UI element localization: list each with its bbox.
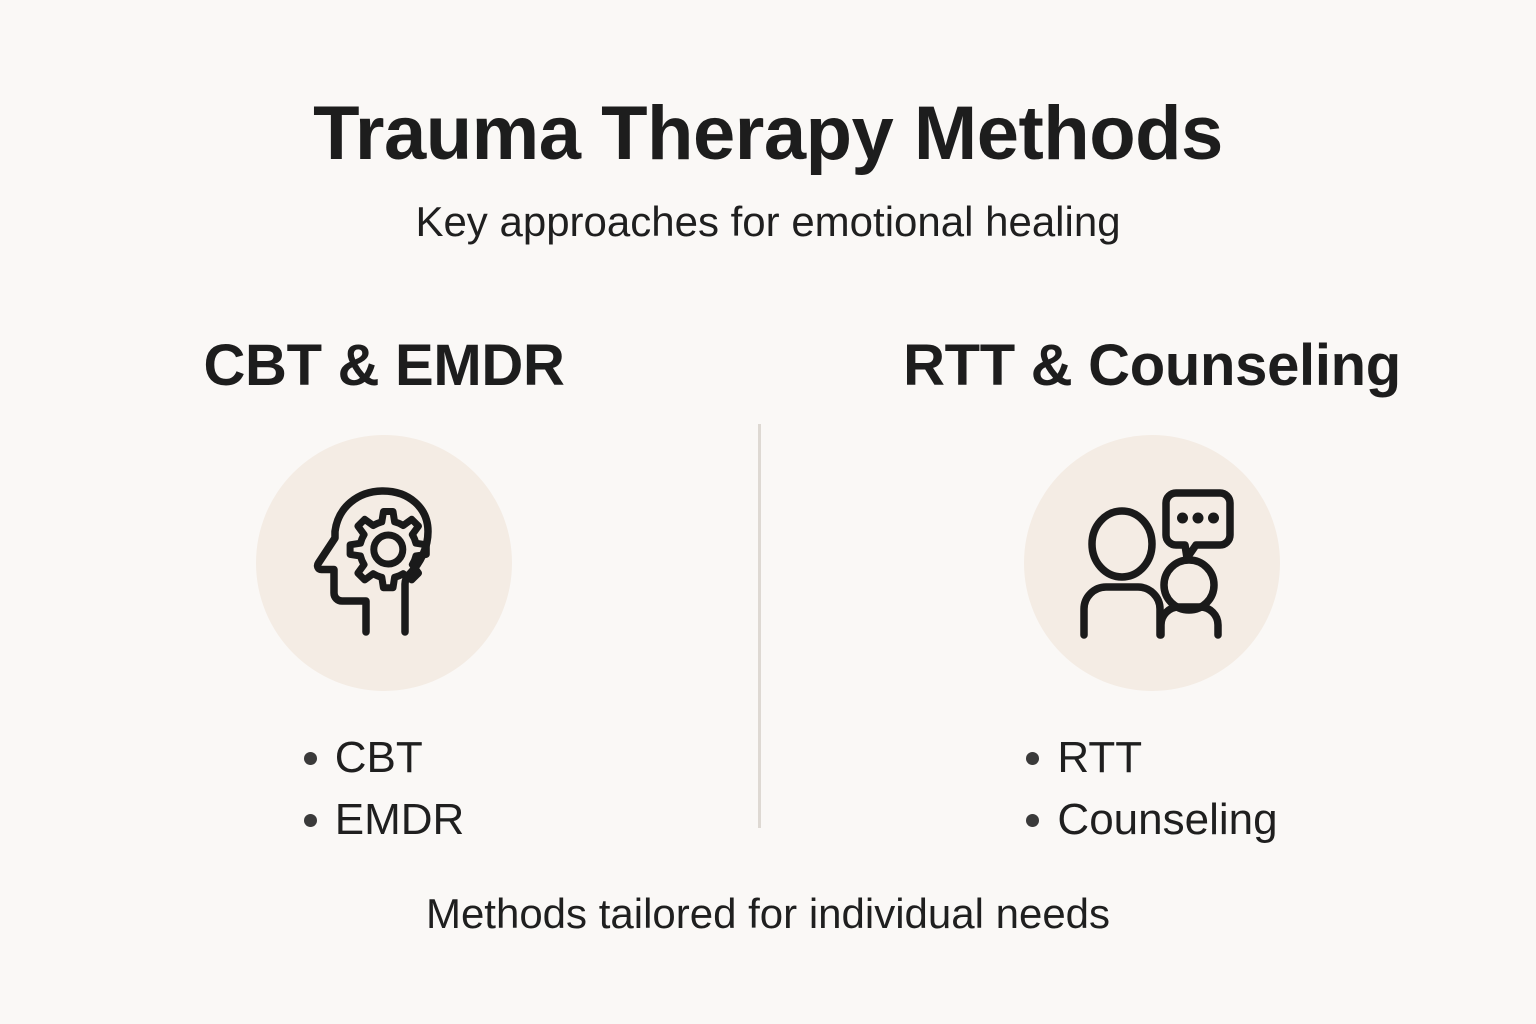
icon-badge-right <box>1024 435 1280 691</box>
footer-text: Methods tailored for individual needs <box>0 893 1536 935</box>
bullet-dot-icon <box>304 814 317 827</box>
infographic-slide: Trauma Therapy Methods Key approaches fo… <box>0 0 1536 1024</box>
list-item-label: Counseling <box>1057 798 1277 842</box>
list-item-label: EMDR <box>335 798 465 842</box>
bullet-dot-icon <box>304 752 317 765</box>
column-cbt-emdr: CBT & EMDR CBT <box>0 337 768 851</box>
bullet-dot-icon <box>1026 814 1039 827</box>
header: Trauma Therapy Methods Key approaches fo… <box>0 96 1536 243</box>
bullet-list-right: RTT Counseling <box>1026 727 1277 851</box>
list-item: CBT <box>304 727 465 789</box>
list-item-label: RTT <box>1057 736 1142 780</box>
column-rtt-counseling: RTT & Counseling <box>768 337 1536 851</box>
page-title: Trauma Therapy Methods <box>0 96 1536 172</box>
bullet-list-left: CBT EMDR <box>304 727 465 851</box>
people-speech-bubble-icon <box>1072 488 1232 638</box>
list-item: RTT <box>1026 727 1277 789</box>
page-subtitle: Key approaches for emotional healing <box>0 172 1536 243</box>
bullet-dot-icon <box>1026 752 1039 765</box>
list-item: EMDR <box>304 789 465 851</box>
column-heading-left: CBT & EMDR <box>203 337 564 399</box>
footer: Methods tailored for individual needs <box>0 893 1536 935</box>
column-divider <box>758 424 761 828</box>
list-item: Counseling <box>1026 789 1277 851</box>
head-gear-icon <box>309 488 459 638</box>
column-heading-right: RTT & Counseling <box>903 337 1401 399</box>
columns-container: CBT & EMDR CBT <box>0 337 1536 851</box>
icon-badge-left <box>256 435 512 691</box>
list-item-label: CBT <box>335 736 423 780</box>
